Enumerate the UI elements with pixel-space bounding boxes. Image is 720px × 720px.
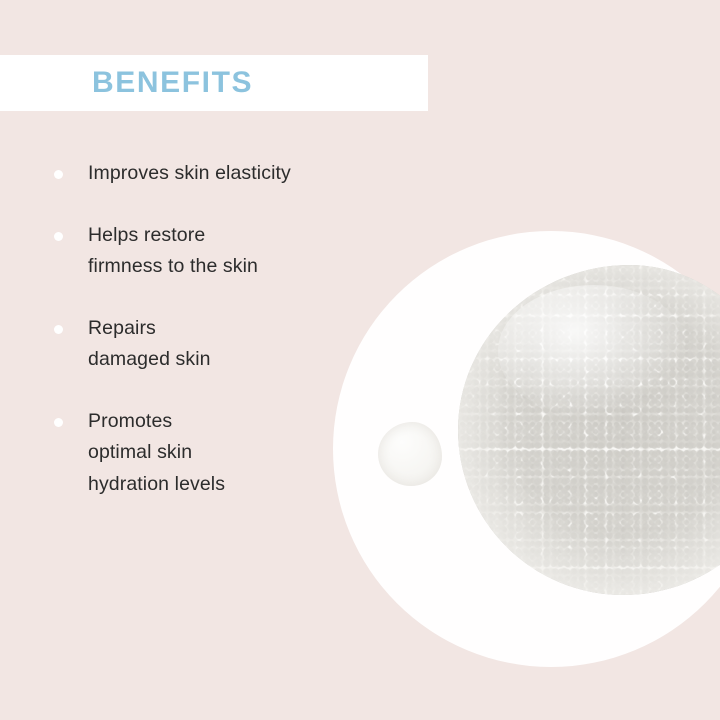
list-item-label: Repairs damaged skin	[88, 313, 408, 376]
list-item: Repairs damaged skin	[48, 313, 408, 376]
list-item: Helps restore firmness to the skin	[48, 220, 408, 283]
bullet-dot-icon	[54, 325, 63, 334]
list-item: Improves skin elasticity	[48, 158, 408, 190]
bullet-dot-icon	[54, 170, 63, 179]
gel-highlight-sheen	[498, 285, 689, 417]
list-item-label: Helps restore firmness to the skin	[88, 220, 408, 283]
bullet-dot-icon	[54, 232, 63, 241]
page-title: BENEFITS	[92, 68, 253, 98]
gel-texture-blob	[458, 265, 720, 595]
section-header-band: BENEFITS	[0, 55, 428, 111]
promo-card: BENEFITS Improves skin elasticity Helps …	[0, 0, 720, 720]
list-item: Promotes optimal skin hydration levels	[48, 406, 408, 501]
list-item-label: Promotes optimal skin hydration levels	[88, 406, 408, 501]
gel-bubble-speckles	[458, 265, 720, 595]
bullet-dot-icon	[54, 418, 63, 427]
list-item-label: Improves skin elasticity	[88, 158, 408, 190]
benefits-list: Improves skin elasticity Helps restore f…	[48, 158, 408, 501]
